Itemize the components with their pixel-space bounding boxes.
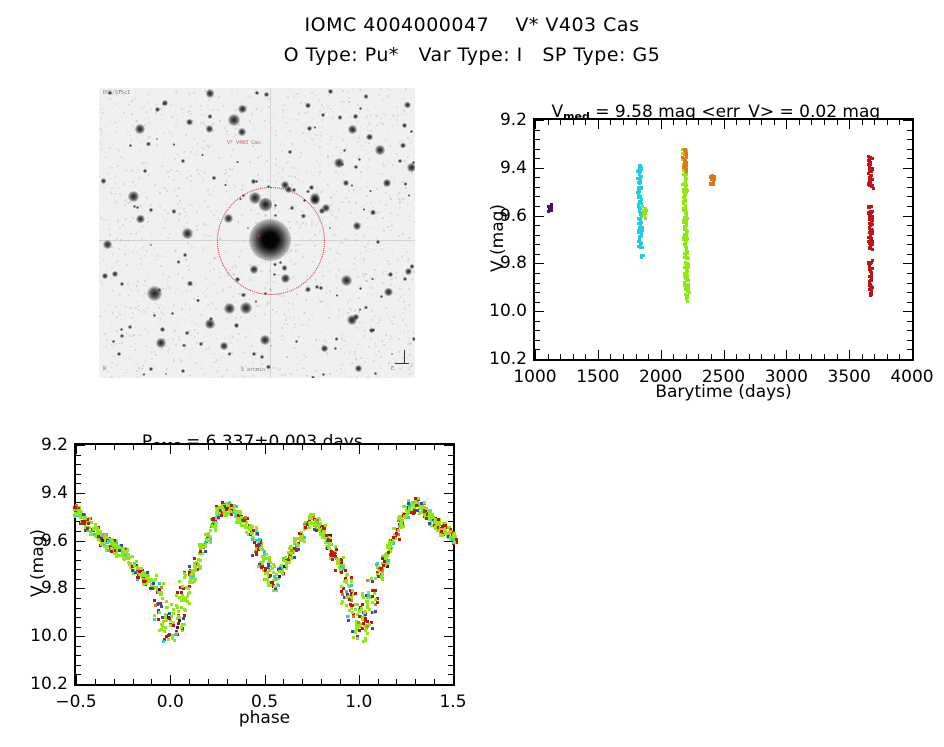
finder-noise-pixel (213, 191, 214, 192)
finder-noise-pixel (190, 204, 192, 206)
x-minor-tick (749, 354, 750, 359)
finder-noise-pixel (291, 143, 293, 145)
phase-plot-data-point (273, 585, 276, 588)
finder-noise-pixel (282, 327, 284, 329)
phase-plot-data-point (333, 552, 336, 555)
finder-noise-pixel (404, 308, 406, 310)
phase-plot-data-point (400, 526, 403, 529)
finder-noise-pixel (268, 129, 269, 130)
phase-plot-data-point (188, 602, 191, 605)
finder-noise-pixel (252, 374, 254, 376)
y-major-tick (535, 168, 544, 169)
finder-noise-pixel (222, 105, 224, 107)
finder-noise-pixel (254, 315, 256, 317)
finder-noise-pixel (219, 367, 220, 368)
finder-noise-pixel (397, 373, 398, 374)
finder-noise-pixel (411, 111, 412, 112)
finder-noise-pixel (375, 345, 377, 347)
finder-noise-pixel (149, 138, 150, 139)
finder-noise-pixel (361, 242, 362, 243)
finder-noise-pixel (160, 227, 161, 228)
finder-noise-pixel (107, 371, 109, 373)
x-minor-tick (761, 354, 762, 359)
finder-noise-pixel (101, 108, 103, 110)
finder-field-star (149, 367, 153, 371)
finder-noise-pixel (187, 289, 189, 291)
finder-noise-pixel (134, 316, 135, 317)
finder-noise-pixel (234, 294, 235, 295)
finder-noise-pixel (385, 307, 387, 309)
phase-plot-data-point (258, 543, 261, 546)
finder-noise-pixel (208, 167, 209, 168)
finder-noise-pixel (362, 301, 363, 302)
finder-noise-pixel (353, 263, 355, 265)
finder-noise-pixel (291, 109, 292, 110)
finder-noise-pixel (397, 115, 399, 117)
finder-field-star (410, 130, 413, 133)
light-curve-data-point (713, 178, 716, 181)
finder-noise-pixel (115, 317, 116, 318)
finder-noise-pixel (131, 317, 133, 319)
finder-noise-pixel (107, 98, 109, 100)
finder-noise-pixel (163, 132, 165, 134)
finder-noise-pixel (284, 158, 285, 159)
phase-plot-data-point (376, 562, 379, 565)
y-minor-tick (535, 130, 540, 131)
y-major-tick-right (903, 168, 912, 169)
y-minor-tick (76, 474, 81, 475)
finder-noise-pixel (105, 156, 107, 158)
finder-noise-pixel (112, 103, 113, 104)
finder-noise-pixel (330, 223, 332, 225)
finder-noise-pixel (127, 305, 128, 306)
finder-noise-pixel (109, 234, 111, 236)
finder-noise-pixel (385, 334, 387, 336)
finder-noise-pixel (126, 372, 127, 373)
finder-noise-pixel (223, 182, 224, 183)
y-minor-tick (535, 149, 540, 150)
y-minor-tick (535, 321, 540, 322)
finder-noise-pixel (294, 347, 296, 349)
finder-noise-pixel (296, 294, 298, 296)
finder-noise-pixel (174, 166, 175, 167)
finder-noise-pixel (108, 88, 109, 89)
finder-noise-pixel (103, 139, 104, 140)
finder-noise-pixel (120, 303, 122, 305)
finder-noise-pixel (180, 174, 181, 175)
finder-noise-pixel (191, 271, 192, 272)
finder-noise-pixel (190, 180, 192, 182)
x-minor-tick (340, 679, 341, 684)
finder-noise-pixel (409, 94, 410, 95)
finder-noise-pixel (150, 233, 152, 235)
finder-position-marker (257, 234, 260, 237)
finder-noise-pixel (216, 329, 217, 330)
finder-noise-pixel (126, 195, 127, 196)
finder-noise-pixel (221, 209, 222, 210)
finder-noise-pixel (168, 348, 170, 350)
x-minor-tick-top (837, 120, 838, 125)
finder-noise-pixel (316, 160, 318, 162)
finder-noise-pixel (160, 304, 161, 305)
y-minor-tick-right (907, 225, 912, 226)
x-minor-tick-top (799, 120, 800, 125)
finder-noise-pixel (329, 271, 331, 273)
finder-noise-pixel (164, 209, 166, 211)
finder-noise-pixel (169, 233, 171, 235)
finder-noise-pixel (355, 268, 357, 270)
phase-plot-data-point (170, 603, 173, 606)
finder-noise-pixel (153, 254, 154, 255)
finder-noise-pixel (125, 218, 127, 220)
x-minor-tick (862, 354, 863, 359)
y-major-tick-right (903, 263, 912, 264)
finder-noise-pixel (346, 91, 348, 93)
finder-noise-pixel (194, 336, 196, 338)
finder-noise-pixel (190, 105, 192, 107)
finder-noise-pixel (381, 248, 383, 250)
finder-noise-pixel (122, 375, 123, 376)
finder-noise-pixel (398, 265, 399, 266)
phase-plot-data-point (90, 533, 93, 536)
finder-noise-pixel (338, 269, 340, 271)
finder-noise-pixel (174, 158, 176, 160)
finder-noise-pixel (294, 90, 295, 91)
finder-noise-pixel (215, 292, 217, 294)
finder-noise-pixel (260, 110, 262, 112)
phase-plot-data-point (331, 558, 334, 561)
y-minor-tick-right (448, 665, 453, 666)
finder-noise-pixel (353, 189, 355, 191)
phase-plot-data-point (374, 598, 377, 601)
finder-noise-pixel (104, 151, 106, 153)
finder-noise-pixel (357, 348, 358, 349)
finder-noise-pixel (368, 304, 369, 305)
phase-plot-data-point (304, 526, 307, 529)
finder-noise-pixel (343, 174, 345, 176)
phase-plot-data-point (402, 525, 405, 528)
finder-noise-pixel (364, 372, 365, 373)
finder-noise-pixel (365, 339, 366, 340)
finder-noise-pixel (114, 199, 115, 200)
finder-noise-pixel (230, 286, 232, 288)
finder-noise-pixel (303, 343, 305, 345)
finder-noise-pixel (402, 138, 403, 139)
phase-plot-data-point (268, 556, 271, 559)
finder-noise-pixel (112, 290, 114, 292)
finder-noise-pixel (155, 227, 156, 228)
finder-noise-pixel (397, 259, 399, 261)
finder-noise-pixel (185, 242, 186, 243)
light-curve-data-point (685, 270, 688, 273)
finder-noise-pixel (154, 351, 156, 353)
y-minor-tick-right (907, 273, 912, 274)
finder-noise-pixel (152, 200, 153, 201)
y-minor-tick-right (907, 244, 912, 245)
finder-noise-pixel (288, 310, 290, 312)
finder-noise-pixel (410, 126, 411, 127)
phase-plot-data-point (329, 543, 332, 546)
finder-noise-pixel (231, 198, 232, 199)
light-curve-data-point (684, 163, 687, 166)
finder-noise-pixel (145, 174, 146, 175)
finder-noise-pixel (138, 309, 140, 311)
phase-plot-data-point (215, 507, 218, 510)
finder-noise-pixel (329, 108, 331, 110)
finder-noise-pixel (350, 212, 352, 214)
finder-noise-pixel (315, 332, 316, 333)
finder-noise-pixel (116, 212, 117, 213)
finder-noise-pixel (410, 370, 411, 371)
finder-noise-pixel (115, 148, 116, 149)
finder-field-star (366, 134, 372, 140)
x-major-tick (786, 350, 787, 359)
finder-noise-pixel (115, 174, 116, 175)
finder-noise-pixel (121, 116, 123, 118)
finder-noise-pixel (403, 201, 404, 202)
finder-noise-pixel (241, 352, 242, 353)
finder-noise-pixel (312, 118, 314, 120)
finder-noise-pixel (185, 134, 187, 136)
finder-noise-pixel (142, 309, 144, 311)
phase-plot-data-point (356, 603, 359, 606)
x-minor-tick (623, 354, 624, 359)
finder-noise-pixel (369, 123, 371, 125)
finder-noise-pixel (396, 324, 398, 326)
finder-noise-pixel (184, 348, 186, 350)
finder-noise-pixel (110, 135, 111, 136)
phase-plot-data-point (274, 577, 277, 580)
finder-noise-pixel (149, 212, 151, 214)
finder-noise-pixel (177, 163, 179, 165)
finder-noise-pixel (198, 260, 199, 261)
finder-noise-pixel (129, 314, 130, 315)
finder-noise-pixel (391, 278, 393, 280)
phase-plot-data-point (324, 537, 327, 540)
finder-field-star (238, 128, 245, 135)
phase-plot-data-point (327, 546, 330, 549)
y-major-tick (535, 120, 544, 121)
finder-noise-pixel (168, 205, 169, 206)
finder-noise-pixel (378, 350, 380, 352)
finder-noise-pixel (134, 339, 135, 340)
y-minor-tick (535, 254, 540, 255)
finder-noise-pixel (244, 97, 245, 98)
finder-noise-pixel (147, 117, 149, 119)
finder-noise-pixel (294, 167, 296, 169)
phase-plot-data-point (165, 600, 168, 603)
finder-field-star (343, 180, 349, 186)
finder-noise-pixel (212, 303, 214, 305)
finder-noise-pixel (197, 332, 199, 334)
finder-noise-pixel (186, 301, 187, 302)
finder-noise-pixel (226, 338, 227, 339)
finder-noise-pixel (390, 94, 391, 95)
light-curve-data-point (684, 167, 687, 170)
finder-noise-pixel (110, 317, 112, 319)
finder-field-star (240, 302, 252, 314)
phase-plot-data-point (199, 550, 202, 553)
finder-noise-pixel (257, 137, 259, 139)
finder-noise-pixel (102, 112, 104, 114)
light-curve-data-point (871, 232, 874, 235)
finder-noise-pixel (392, 309, 393, 310)
finder-noise-pixel (198, 324, 199, 325)
finder-noise-pixel (363, 124, 364, 125)
finder-noise-pixel (248, 364, 249, 365)
finder-noise-pixel (208, 146, 210, 148)
finder-noise-pixel (205, 278, 207, 280)
finder-noise-pixel (292, 320, 293, 321)
finder-noise-pixel (276, 137, 278, 139)
finder-noise-pixel (355, 234, 357, 236)
finder-noise-pixel (321, 119, 323, 121)
finder-noise-pixel (137, 361, 139, 363)
finder-noise-pixel (204, 172, 206, 174)
y-major-tick (76, 493, 85, 494)
finder-noise-pixel (305, 301, 306, 302)
finder-noise-pixel (145, 362, 146, 363)
finder-noise-pixel (163, 152, 165, 154)
finder-noise-pixel (398, 235, 400, 237)
finder-noise-pixel (368, 346, 370, 348)
finder-noise-pixel (366, 236, 367, 237)
finder-noise-pixel (327, 105, 329, 107)
finder-noise-pixel (387, 216, 388, 217)
finder-noise-pixel (200, 109, 201, 110)
finder-noise-pixel (362, 129, 363, 130)
finder-noise-pixel (217, 266, 219, 268)
y-major-tick (535, 359, 544, 360)
finder-noise-pixel (175, 103, 177, 105)
finder-noise-pixel (235, 301, 237, 303)
finder-noise-pixel (205, 329, 206, 330)
finder-noise-pixel (287, 96, 289, 98)
finder-noise-pixel (163, 106, 164, 107)
y-minor-tick-right (448, 646, 453, 647)
y-minor-tick (535, 196, 540, 197)
finder-noise-pixel (249, 149, 250, 150)
finder-noise-pixel (284, 144, 285, 145)
finder-noise-pixel (380, 173, 382, 175)
finder-noise-pixel (180, 150, 181, 151)
x-minor-tick-top (283, 445, 284, 450)
finder-noise-pixel (404, 160, 406, 162)
finder-noise-pixel (191, 191, 192, 192)
finder-noise-pixel (235, 109, 237, 111)
finder-noise-pixel (367, 211, 369, 213)
x-major-tick-top (76, 445, 77, 454)
phase-plot-data-point (74, 512, 77, 515)
finder-noise-pixel (382, 271, 384, 273)
finder-noise-pixel (402, 319, 404, 321)
finder-noise-pixel (187, 265, 189, 267)
phase-plot-data-point (302, 539, 305, 542)
finder-noise-pixel (141, 368, 143, 370)
finder-noise-pixel (158, 278, 159, 279)
finder-noise-pixel (206, 197, 207, 198)
x-major-tick (76, 675, 77, 684)
finder-noise-pixel (182, 238, 183, 239)
phase-plot-data-point (350, 607, 353, 610)
x-minor-tick (899, 354, 900, 359)
finder-noise-pixel (150, 351, 152, 353)
finder-noise-pixel (161, 171, 162, 172)
phase-plot-data-point (360, 607, 363, 610)
finder-noise-pixel (319, 110, 321, 112)
finder-field-star (156, 338, 165, 347)
finder-noise-pixel (303, 360, 304, 361)
finder-field-star (322, 373, 325, 376)
finder-field-star (120, 282, 124, 286)
finder-noise-pixel (281, 321, 282, 322)
finder-noise-pixel (249, 350, 250, 351)
finder-noise-pixel (208, 195, 209, 196)
finder-noise-pixel (225, 181, 227, 183)
finder-noise-pixel (317, 113, 318, 114)
finder-noise-pixel (391, 226, 392, 227)
finder-noise-pixel (335, 217, 337, 219)
finder-noise-pixel (183, 361, 184, 362)
finder-noise-pixel (214, 361, 216, 363)
finder-noise-pixel (163, 217, 164, 218)
y-major-tick (535, 216, 544, 217)
finder-noise-pixel (282, 116, 284, 118)
finder-noise-pixel (320, 132, 322, 134)
finder-noise-pixel (321, 217, 322, 218)
finder-noise-pixel (374, 348, 375, 349)
finder-noise-pixel (199, 205, 201, 207)
finder-noise-pixel (178, 336, 180, 338)
finder-field-star (228, 114, 240, 126)
phase-plot-data-point (115, 555, 118, 558)
finder-east-tick (395, 363, 409, 364)
finder-noise-pixel (390, 212, 392, 214)
finder-noise-pixel (360, 190, 361, 191)
finder-noise-pixel (173, 179, 175, 181)
y-major-tick (76, 445, 85, 446)
finder-noise-pixel (315, 279, 317, 281)
finder-noise-pixel (405, 114, 407, 116)
finder-noise-pixel (207, 235, 209, 237)
light-curve-data-point (871, 219, 874, 222)
phase-plot-data-point (340, 571, 343, 574)
y-minor-tick (76, 665, 81, 666)
finder-field-star (224, 303, 235, 314)
finder-noise-pixel (215, 154, 216, 155)
light-curve-data-point (686, 262, 689, 265)
finder-noise-pixel (149, 91, 151, 93)
y-minor-tick (76, 464, 81, 465)
finder-noise-pixel (354, 236, 355, 237)
finder-noise-pixel (139, 371, 141, 373)
finder-noise-pixel (182, 277, 184, 279)
light-curve-data-point (869, 262, 872, 265)
light-curve-data-point (639, 246, 642, 249)
x-minor-tick (114, 679, 115, 684)
phase-plot-data-point (324, 524, 327, 527)
finder-noise-pixel (138, 169, 140, 171)
finder-noise-pixel (376, 265, 377, 266)
finder-noise-pixel (247, 97, 249, 99)
phase-plot-data-point (181, 585, 184, 588)
finder-noise-pixel (100, 217, 102, 219)
finder-noise-pixel (287, 179, 289, 181)
y-major-tick (76, 588, 85, 589)
finder-noise-pixel (249, 377, 250, 378)
finder-noise-pixel (388, 362, 390, 364)
finder-noise-pixel (116, 330, 118, 332)
